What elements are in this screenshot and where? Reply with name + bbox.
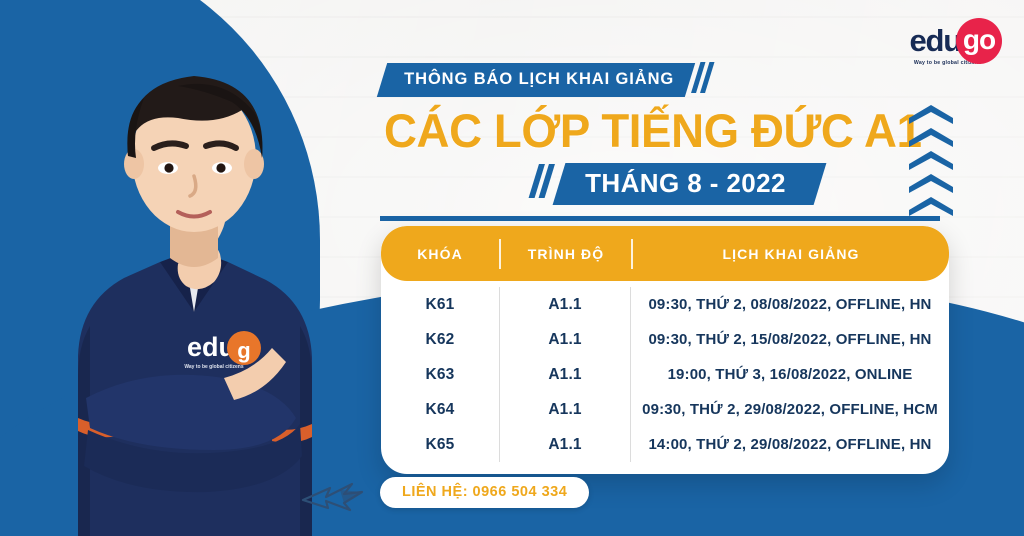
arrow-right-doodle-icon	[300, 470, 376, 514]
month-badge: THÁNG 8 - 2022	[553, 163, 827, 205]
chevron-up-icon	[908, 196, 954, 217]
chevron-stack	[908, 104, 954, 217]
cell-lich: 09:30, THỨ 2, 29/08/2022, OFFLINE, HCM	[631, 401, 949, 418]
svg-text:Way to be global citizens: Way to be global citizens	[184, 364, 243, 370]
cell-lich: 14:00, THỨ 2, 29/08/2022, OFFLINE, HN	[631, 436, 949, 453]
cell-khoa: K63	[381, 366, 499, 384]
edugo-logo: edu go Way to be global citizens	[909, 18, 1002, 66]
announcement-ribbon: THÔNG BÁO LỊCH KHAI GIẢNG	[377, 63, 695, 97]
cell-trinh-do: A1.1	[500, 331, 630, 349]
cell-lich: 09:30, THỨ 2, 08/08/2022, OFFLINE, HN	[631, 296, 949, 313]
table-row: K64 A1.1 09:30, THỨ 2, 29/08/2022, OFFLI…	[381, 392, 949, 427]
contact-block: LIÊN HỆ: 0966 504 334	[300, 470, 589, 514]
cell-lich: 09:30, THỨ 2, 15/08/2022, OFFLINE, HN	[631, 331, 949, 348]
month-badge-label: THÁNG 8 - 2022	[585, 168, 786, 199]
schedule-card: KHÓA TRÌNH ĐỘ LỊCH KHAI GIẢNG K61 A1.1 0…	[381, 226, 949, 474]
cell-khoa: K64	[381, 401, 499, 419]
svg-text:g: g	[237, 338, 250, 363]
table-row: K65 A1.1 14:00, THỨ 2, 29/08/2022, OFFLI…	[381, 427, 949, 462]
table-header-row: KHÓA TRÌNH ĐỘ LỊCH KHAI GIẢNG	[381, 226, 949, 281]
column-header-khoa: KHÓA	[381, 246, 499, 262]
logo-go-circle: go	[956, 18, 1002, 64]
announcement-ribbon-label: THÔNG BÁO LỊCH KHAI GIẢNG	[404, 70, 674, 89]
student-photo: edu g Way to be global citizens	[28, 26, 358, 536]
table-row: K62 A1.1 09:30, THỨ 2, 15/08/2022, OFFLI…	[381, 322, 949, 357]
logo-wordmark: edu go	[909, 18, 1002, 64]
chevron-up-icon	[908, 150, 954, 171]
title-divider	[380, 216, 940, 221]
logo-go-text: go	[963, 26, 995, 54]
table-row: K61 A1.1 09:30, THỨ 2, 08/08/2022, OFFLI…	[381, 287, 949, 322]
chevron-up-icon	[908, 104, 954, 125]
cell-trinh-do: A1.1	[500, 436, 630, 454]
column-header-trinh-do: TRÌNH ĐỘ	[501, 246, 631, 262]
cell-khoa: K65	[381, 436, 499, 454]
chevron-up-icon	[908, 173, 954, 194]
promo-banner: edu g Way to be global citizens THÔNG BÁ…	[0, 0, 1024, 536]
contact-label: LIÊN HỆ: 0966 504 334	[402, 484, 567, 500]
headline-block: THÔNG BÁO LỊCH KHAI GIẢNG CÁC LỚP TIẾNG …	[378, 62, 954, 221]
cell-lich: 19:00, THỨ 3, 16/08/2022, ONLINE	[631, 366, 949, 383]
cell-khoa: K61	[381, 296, 499, 314]
month-row: THÁNG 8 - 2022	[528, 163, 954, 205]
logo-edu-text: edu	[909, 23, 961, 59]
cell-trinh-do: A1.1	[500, 366, 630, 384]
cell-trinh-do: A1.1	[500, 296, 630, 314]
cell-trinh-do: A1.1	[500, 401, 630, 419]
page-title: CÁC LỚP TIẾNG ĐỨC A1	[384, 107, 937, 155]
table-body: K61 A1.1 09:30, THỨ 2, 08/08/2022, OFFLI…	[381, 281, 949, 474]
column-header-lich-khai-giang: LỊCH KHAI GIẢNG	[633, 246, 949, 262]
contact-pill[interactable]: LIÊN HỆ: 0966 504 334	[380, 477, 589, 508]
chevron-up-icon	[908, 127, 954, 148]
table-row: K63 A1.1 19:00, THỨ 3, 16/08/2022, ONLIN…	[381, 357, 949, 392]
cell-khoa: K62	[381, 331, 499, 349]
